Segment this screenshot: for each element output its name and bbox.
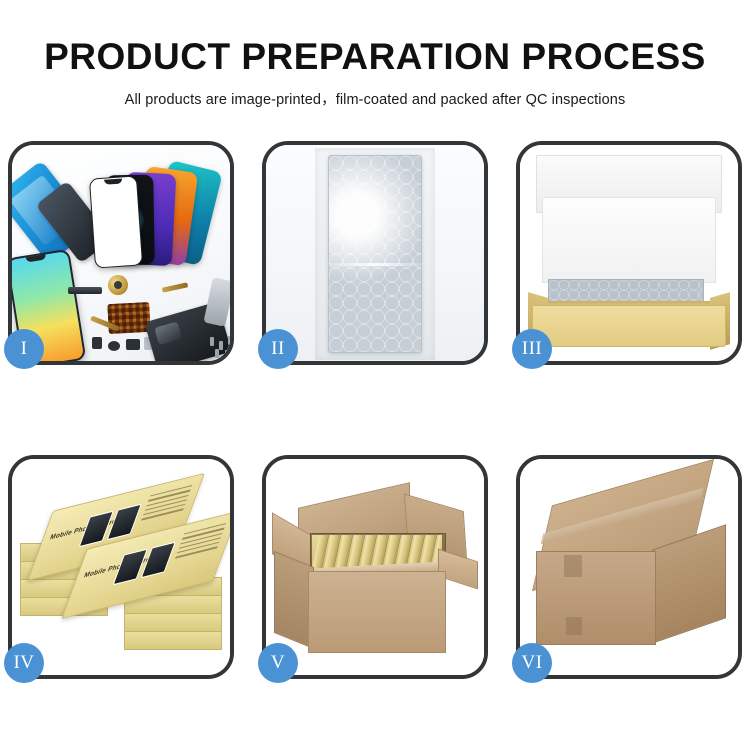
step-3-badge: III (512, 329, 552, 369)
small-part-icon-1 (92, 337, 102, 349)
process-step-1: I (8, 141, 234, 365)
process-step-4: Mobile Phone Spare Parts Mobile Phone Sp… (8, 455, 234, 679)
step-6-badge: VI (512, 643, 552, 683)
step-2-badge: II (258, 329, 298, 369)
phone-screen-fan (80, 153, 230, 273)
carton-front-face-icon (308, 571, 446, 653)
box-spec-lines-2 (174, 523, 226, 562)
vibration-motor-icon (108, 275, 128, 295)
bubble-wrap-icon (328, 155, 422, 353)
step-1-image (12, 145, 230, 361)
step-6-image (520, 459, 738, 675)
small-part-icon-3 (126, 339, 140, 350)
foam-padding-icon (542, 197, 716, 283)
sealed-carton-front-icon (536, 551, 656, 645)
page-title: PRODUCT PREPARATION PROCESS (0, 0, 750, 77)
kraft-box-front-icon (532, 305, 726, 347)
speaker-part-icon (68, 287, 102, 294)
screws-group-icon (208, 335, 230, 361)
step-5-image (266, 459, 484, 675)
small-part-icon-2 (108, 341, 120, 351)
step-5-badge: V (258, 643, 298, 683)
box-edge-icon-8 (124, 631, 222, 650)
process-step-6: VI (516, 455, 742, 679)
phone-front-white-icon (89, 175, 143, 268)
box-spec-lines-1 (140, 485, 192, 524)
process-step-3: III (516, 141, 742, 365)
step-4-badge: IV (4, 643, 44, 683)
step-3-image (520, 145, 738, 361)
step-4-image: Mobile Phone Spare Parts Mobile Phone Sp… (12, 459, 230, 675)
box-stack-icon: Mobile Phone Spare Parts Mobile Phone Sp… (18, 473, 224, 669)
page-header: PRODUCT PREPARATION PROCESS All products… (0, 0, 750, 109)
carton-label-patch-icon-2 (566, 617, 582, 635)
step-2-image (266, 145, 484, 361)
step-1-badge: I (4, 329, 44, 369)
box-edge-icon-7 (124, 613, 222, 632)
process-step-grid: I II III (8, 141, 742, 679)
page-subtitle: All products are image-printed，film-coat… (0, 77, 750, 109)
pouch-seam-icon (327, 263, 423, 266)
process-step-2: II (262, 141, 488, 365)
carton-label-patch-icon-1 (564, 555, 582, 577)
process-step-5: V (262, 455, 488, 679)
